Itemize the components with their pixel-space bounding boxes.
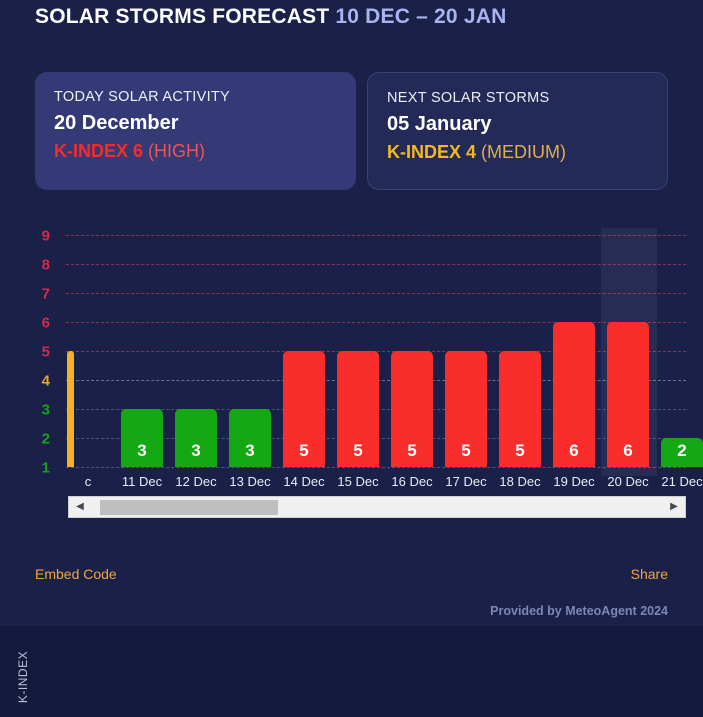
gridline-7: 7 — [66, 293, 686, 294]
gridline-9: 9 — [66, 235, 686, 236]
bar-value-label: 5 — [391, 441, 433, 461]
y-tick-label-5: 5 — [42, 344, 50, 361]
x-tick-label: 11 Dec — [115, 474, 169, 489]
bar-value-label: 3 — [229, 441, 271, 461]
card-next-caption: NEXT SOLAR STORMS — [387, 90, 667, 106]
y-tick-label-6: 6 — [42, 315, 50, 332]
scroll-left-arrow-icon[interactable]: ◀ — [71, 497, 89, 517]
bar-19-dec[interactable]: 6 — [553, 322, 595, 467]
bar-21-dec[interactable]: 2 — [661, 438, 703, 467]
y-tick-label-8: 8 — [42, 257, 50, 274]
card-today-kindex-level: (HIGH) — [148, 141, 205, 161]
x-tick-label: 13 Dec — [223, 474, 277, 489]
bar-value-label: 3 — [175, 441, 217, 461]
bar-12-dec[interactable]: 3 — [175, 409, 217, 467]
bar-13-dec[interactable]: 3 — [229, 409, 271, 467]
y-tick-label-3: 3 — [42, 402, 50, 419]
card-today-date: 20 December — [54, 112, 356, 135]
card-today-solar-activity[interactable]: TODAY SOLAR ACTIVITY 20 December K-INDEX… — [35, 72, 356, 190]
page-title: SOLAR STORMS FORECAST 10 DEC – 20 JAN — [35, 5, 506, 29]
y-tick-label-4: 4 — [42, 373, 50, 390]
x-tick-label: 12 Dec — [169, 474, 223, 489]
y-tick-label-7: 7 — [42, 286, 50, 303]
bar-value-label: 5 — [283, 441, 325, 461]
scrollbar-thumb[interactable] — [100, 500, 278, 515]
share-link[interactable]: Share — [631, 566, 668, 582]
bar-value-label: 2 — [661, 441, 703, 461]
bar-15-dec[interactable]: 5 — [337, 351, 379, 467]
bar-value-label: 5 — [445, 441, 487, 461]
x-tick-label: c — [61, 474, 115, 489]
x-tick-label: 20 Dec — [601, 474, 655, 489]
card-today-kindex-value: K-INDEX 6 — [54, 141, 143, 161]
bar-20-dec[interactable]: 6 — [607, 322, 649, 467]
x-tick-label: 16 Dec — [385, 474, 439, 489]
card-next-kindex: K-INDEX 4 (MEDIUM) — [387, 142, 667, 163]
x-tick-label: 15 Dec — [331, 474, 385, 489]
provider-credit: Provided by MeteoAgent 2024 — [490, 604, 668, 618]
kindex-bar-chart: K-INDEX 987654321c311 Dec312 Dec313 Dec5… — [0, 215, 703, 490]
x-tick-label: 19 Dec — [547, 474, 601, 489]
bar-c[interactable] — [67, 351, 74, 467]
page-title-main: SOLAR STORMS FORECAST — [35, 5, 329, 28]
card-next-kindex-value: K-INDEX 4 — [387, 142, 476, 162]
bar-16-dec[interactable]: 5 — [391, 351, 433, 467]
card-next-kindex-level: (MEDIUM) — [481, 142, 566, 162]
chart-plot-area: 987654321c311 Dec312 Dec313 Dec514 Dec51… — [66, 235, 686, 467]
bar-17-dec[interactable]: 5 — [445, 351, 487, 467]
bar-14-dec[interactable]: 5 — [283, 351, 325, 467]
y-tick-label-2: 2 — [42, 431, 50, 448]
card-next-solar-storms[interactable]: NEXT SOLAR STORMS 05 January K-INDEX 4 (… — [367, 72, 668, 190]
bar-value-label: 5 — [337, 441, 379, 461]
summary-cards: TODAY SOLAR ACTIVITY 20 December K-INDEX… — [35, 72, 668, 190]
embed-code-link[interactable]: Embed Code — [35, 566, 117, 582]
bar-value-label: 6 — [607, 441, 649, 461]
x-tick-label: 14 Dec — [277, 474, 331, 489]
gridline-1: 1 — [66, 467, 686, 468]
chart-horizontal-scrollbar[interactable]: ◀ ▶ — [68, 496, 686, 518]
x-tick-label: 17 Dec — [439, 474, 493, 489]
x-tick-label: 18 Dec — [493, 474, 547, 489]
y-axis-title: K-INDEX — [16, 637, 30, 717]
gridline-8: 8 — [66, 264, 686, 265]
page-title-date-range: 10 DEC – 20 JAN — [335, 5, 506, 28]
bar-11-dec[interactable]: 3 — [121, 409, 163, 467]
card-next-date: 05 January — [387, 113, 667, 136]
bar-18-dec[interactable]: 5 — [499, 351, 541, 467]
card-today-kindex: K-INDEX 6 (HIGH) — [54, 141, 356, 162]
card-today-caption: TODAY SOLAR ACTIVITY — [54, 89, 356, 105]
x-tick-label: 21 Dec — [655, 474, 703, 489]
y-tick-label-9: 9 — [42, 228, 50, 245]
bar-value-label: 3 — [121, 441, 163, 461]
y-tick-label-1: 1 — [42, 460, 50, 477]
bar-value-label: 5 — [499, 441, 541, 461]
scroll-right-arrow-icon[interactable]: ▶ — [665, 497, 683, 517]
bar-value-label: 6 — [553, 441, 595, 461]
